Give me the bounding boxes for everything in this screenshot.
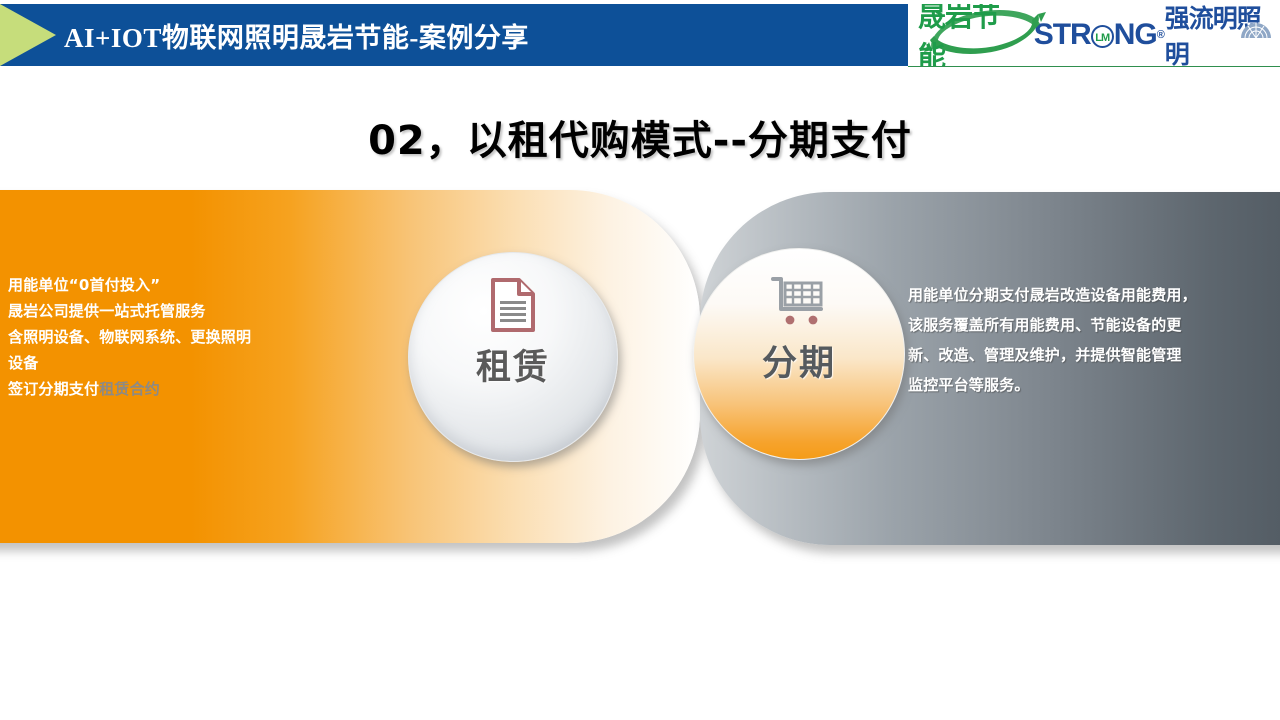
header-title: AI+IOT物联网照明晟岩节能-案例分享 (64, 4, 529, 66)
header-arrow-icon (0, 4, 56, 66)
logo-brand-head: STR (1034, 18, 1091, 52)
shopping-cart-icon (771, 275, 827, 327)
lease-line-4: 设备 (8, 350, 318, 376)
slide-title: 02，以租代购模式--分期支付 (0, 108, 1280, 166)
logo-brand: STRLMNG® (1034, 18, 1164, 52)
installment-circle[interactable]: 分期 (693, 248, 905, 460)
lease-circle[interactable]: 租赁 (408, 252, 618, 462)
logo-fan-icon (1239, 20, 1273, 38)
lease-line-1: 用能单位“0首付投入” (8, 272, 318, 298)
installment-line-1: 用能单位分期支付晟岩改造设备用能费用， (908, 280, 1274, 310)
lease-panel-text: 用能单位“0首付投入” 晟岩公司提供一站式托管服务 含照明设备、物联网系统、更换… (8, 272, 318, 402)
logo-brand-tail: NG (1114, 18, 1157, 52)
logo-company-name: 晟岩节能 (918, 4, 1022, 67)
lease-line-5-plain: 签订分期支付 (8, 380, 99, 398)
lease-circle-label: 租赁 (476, 339, 550, 390)
document-icon-wrap (489, 277, 537, 333)
lease-line-5: 签订分期支付租赁合约 (8, 376, 318, 402)
document-icon (489, 277, 537, 333)
lease-line-2: 晟岩公司提供一站式托管服务 (8, 298, 318, 324)
installment-panel-text: 用能单位分期支付晟岩改造设备用能费用， 该服务覆盖所有用能费用、节能设备的更 新… (908, 280, 1274, 400)
installment-line-3: 新、改造、管理及维护，并提供智能管理 (908, 340, 1274, 370)
logo-lm-mark: LM (1091, 25, 1114, 48)
logo-registered-mark: ® (1157, 29, 1164, 41)
company-logo: 晟岩节能 STRLMNG® 强流明照明 (908, 4, 1280, 67)
installment-circle-label: 分期 (762, 335, 836, 386)
shopping-cart-icon-wrap (771, 273, 827, 329)
slide-header: AI+IOT物联网照明晟岩节能-案例分享 晟岩节能 STRLMNG® 强流明照明 (0, 0, 1280, 70)
installment-line-2: 该服务覆盖所有用能费用、节能设备的更 (908, 310, 1274, 340)
lease-line-3: 含照明设备、物联网系统、更换照明 (8, 324, 318, 350)
lease-line-5-highlight: 租赁合约 (99, 380, 160, 398)
installment-line-4: 监控平台等服务。 (908, 370, 1274, 400)
